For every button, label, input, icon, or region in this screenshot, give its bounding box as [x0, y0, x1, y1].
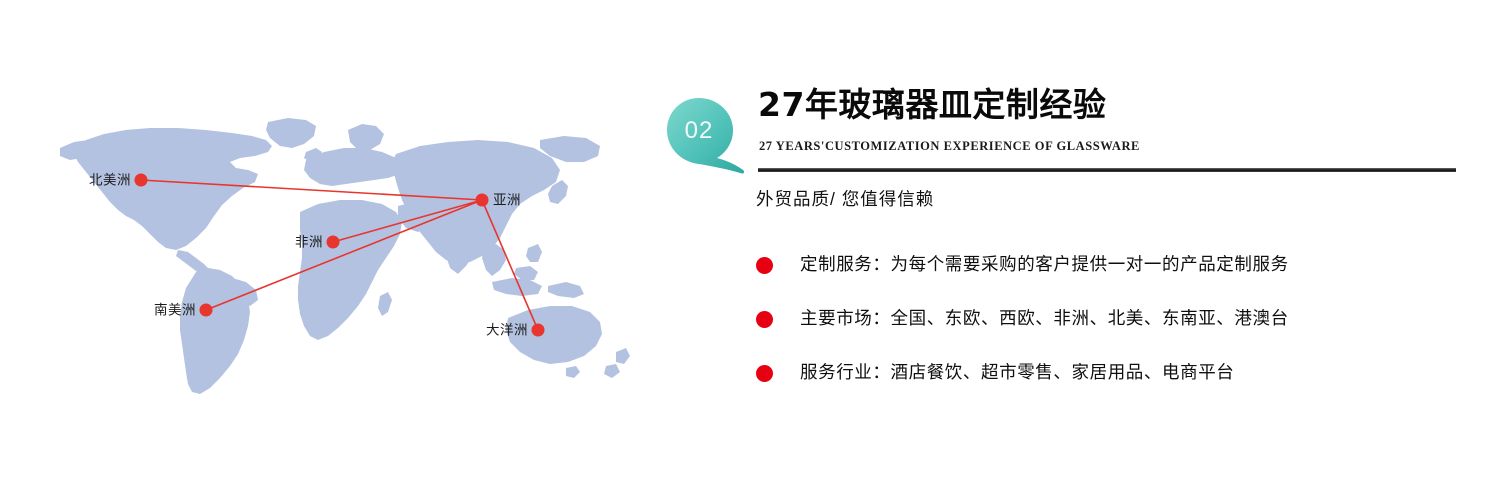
landmass-north-america	[72, 128, 272, 250]
header-divider	[758, 168, 1456, 172]
red-dot-icon	[756, 257, 773, 274]
map-label-north-america: 北美洲	[89, 173, 131, 187]
landmass-madagascar	[378, 292, 392, 316]
list-item-label: 主要市场：全国、东欧、西欧、非洲、北美、东南亚、港澳台	[800, 310, 1289, 328]
tagline-text: 外贸品质/ 您值得信赖	[756, 186, 934, 211]
landmass-greenland	[266, 118, 316, 148]
map-label-south-america: 南美洲	[154, 303, 196, 317]
list-item: 服务行业：酒店餐饮、超市零售、家居用品、电商平台	[756, 346, 1476, 400]
map-marker-asia	[476, 194, 489, 207]
map-label-oceania: 大洋洲	[486, 323, 528, 337]
section-title-cn: 27年玻璃器皿定制经验	[758, 86, 1106, 124]
list-item-label: 定制服务：为每个需要采购的客户提供一对一的产品定制服务	[800, 256, 1289, 274]
map-marker-north-america	[135, 174, 148, 187]
map-marker-africa	[327, 236, 340, 249]
section-title-en: 27 YEARS'CUSTOMIZATION EXPERIENCE OF GLA…	[759, 139, 1140, 154]
list-item: 定制服务：为每个需要采购的客户提供一对一的产品定制服务	[756, 238, 1476, 292]
list-item-label: 服务行业：酒店餐饮、超市零售、家居用品、电商平台	[800, 364, 1234, 382]
map-label-asia: 亚洲	[493, 193, 521, 207]
world-map-panel: 北美洲 亚洲 非洲 南美洲 大洋洲	[0, 0, 660, 500]
world-map-graphic	[0, 0, 660, 500]
landmass-philippines	[526, 244, 542, 262]
landmass-tasmania	[566, 366, 580, 378]
landmass-new-zealand-south	[604, 364, 620, 378]
content-panel: 02 27年玻璃器皿定制经验 27 YEARS'CUSTOMIZATION EX…	[660, 0, 1500, 500]
list-item: 主要市场：全国、东欧、西欧、非洲、北美、东南亚、港澳台	[756, 292, 1476, 346]
badge-number: 02	[665, 96, 733, 166]
landmass-scandinavia	[348, 124, 384, 150]
map-label-africa: 非洲	[295, 235, 323, 249]
promo-banner: 北美洲 亚洲 非洲 南美洲 大洋洲 02 27年玻璃器皿定制	[0, 0, 1500, 500]
landmass-new-zealand	[616, 348, 630, 364]
landmass-group	[60, 118, 630, 394]
landmass-india	[444, 228, 478, 274]
landmass-borneo	[514, 266, 538, 280]
landmass-africa	[298, 200, 402, 340]
feature-list: 定制服务：为每个需要采购的客户提供一对一的产品定制服务 主要市场：全国、东欧、西…	[756, 238, 1476, 400]
map-marker-south-america	[200, 304, 213, 317]
landmass-new-guinea	[548, 282, 584, 298]
red-dot-icon	[756, 365, 773, 382]
red-dot-icon	[756, 311, 773, 328]
map-marker-oceania	[532, 324, 545, 337]
section-number-badge: 02	[665, 96, 749, 180]
